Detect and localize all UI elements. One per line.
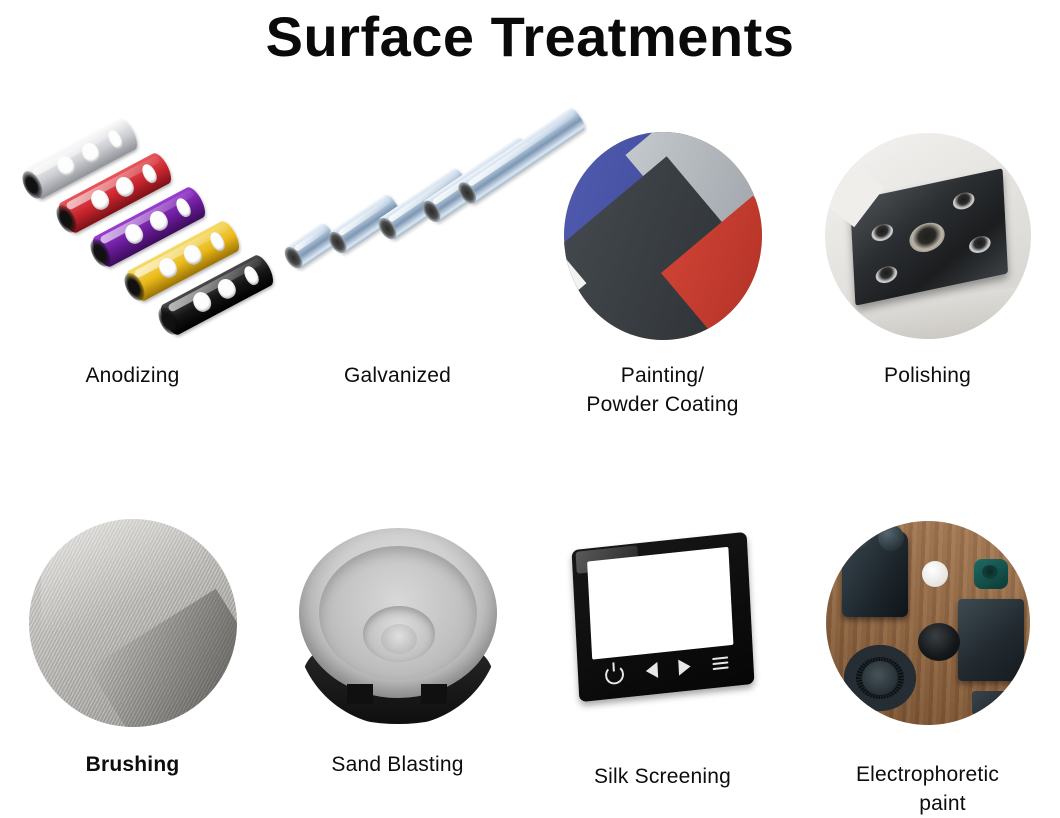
ecoated-small-bracket <box>972 691 1016 715</box>
bowl-notch-left <box>347 684 373 704</box>
label-line-1: Galvanized <box>344 364 451 387</box>
display-window <box>587 546 733 659</box>
ecoated-gear <box>844 645 916 711</box>
treatment-card-galvanized[interactable]: Galvanized <box>265 118 530 419</box>
menu-icon <box>712 653 729 673</box>
bowl-hub <box>381 624 417 654</box>
treatment-row: Anodizing Galvanized <box>0 118 1060 419</box>
treatment-card-electrophoretic-paint[interactable]: Electrophoretic paint <box>795 505 1060 818</box>
silkscreened-panel-image <box>563 533 763 713</box>
treatment-label-brushing: Brushing <box>0 750 265 779</box>
glass-panel <box>571 531 754 701</box>
polishing-thumbnail <box>795 118 1060 353</box>
brushed-metal-image <box>29 519 237 727</box>
label-line-1: Brushing <box>86 753 180 776</box>
treatment-card-polishing[interactable]: Polishing <box>795 118 1060 419</box>
painting-thumbnail <box>530 118 795 353</box>
label-line-1: Polishing <box>884 364 971 387</box>
galvanized-thumbnail <box>265 118 530 353</box>
ecoated-dome-part <box>918 623 960 661</box>
treatment-card-silk-screening[interactable]: Silk Screening <box>530 505 795 818</box>
treatment-card-painting[interactable]: Painting/ Powder Coating <box>530 118 795 419</box>
polished-plate-image <box>825 133 1031 339</box>
label-line-1: Sand Blasting <box>331 753 463 776</box>
ecoated-motor-housing <box>842 531 908 617</box>
sand-blasting-thumbnail <box>265 505 530 740</box>
treatment-label-electrophoretic-paint: Electrophoretic paint <box>795 760 1060 818</box>
triangle-right-icon <box>678 658 691 675</box>
triangle-left-icon <box>645 661 658 678</box>
treatment-card-anodizing[interactable]: Anodizing <box>0 118 265 419</box>
treatment-card-sand-blasting[interactable]: Sand Blasting <box>265 505 530 818</box>
ecoated-parts-image <box>826 521 1030 725</box>
label-line-1: Silk Screening <box>594 765 731 788</box>
power-icon <box>604 663 624 684</box>
anodizing-thumbnail <box>0 118 265 353</box>
treatment-label-sand-blasting: Sand Blasting <box>265 750 530 779</box>
brushing-thumbnail <box>0 505 265 740</box>
green-coated-bushing <box>974 559 1008 589</box>
sandblasted-bowl-image <box>295 520 501 726</box>
white-cylinder-part <box>922 561 948 587</box>
treatment-label-anodizing: Anodizing <box>0 361 265 390</box>
ecoated-flat-plate <box>958 599 1024 681</box>
treatment-row: Brushing Sand Blasting <box>0 505 1060 818</box>
bowl-notch-right <box>421 684 447 704</box>
silk-screening-thumbnail <box>530 505 795 740</box>
label-line-1: Electrophoretic <box>856 763 999 786</box>
anodized-tubes-image <box>18 136 248 336</box>
treatment-grid: Anodizing Galvanized <box>0 118 1060 818</box>
treatment-label-galvanized: Galvanized <box>265 361 530 390</box>
powder-coated-panels-image <box>564 132 762 340</box>
treatment-label-polishing: Polishing <box>795 361 1060 390</box>
label-line-2: paint <box>795 789 1060 818</box>
treatment-label-silk-screening: Silk Screening <box>530 762 795 791</box>
label-line-1: Painting/ <box>621 364 705 387</box>
treatment-label-painting: Painting/ Powder Coating <box>530 361 795 419</box>
label-line-2: Powder Coating <box>530 390 795 419</box>
galvanized-standoffs-image <box>280 141 515 331</box>
page-title: Surface Treatments <box>0 6 1060 68</box>
label-line-1: Anodizing <box>85 364 179 387</box>
electrophoretic-thumbnail <box>795 505 1060 740</box>
polished-metal-plate <box>849 168 1007 306</box>
treatment-card-brushing[interactable]: Brushing <box>0 505 265 818</box>
